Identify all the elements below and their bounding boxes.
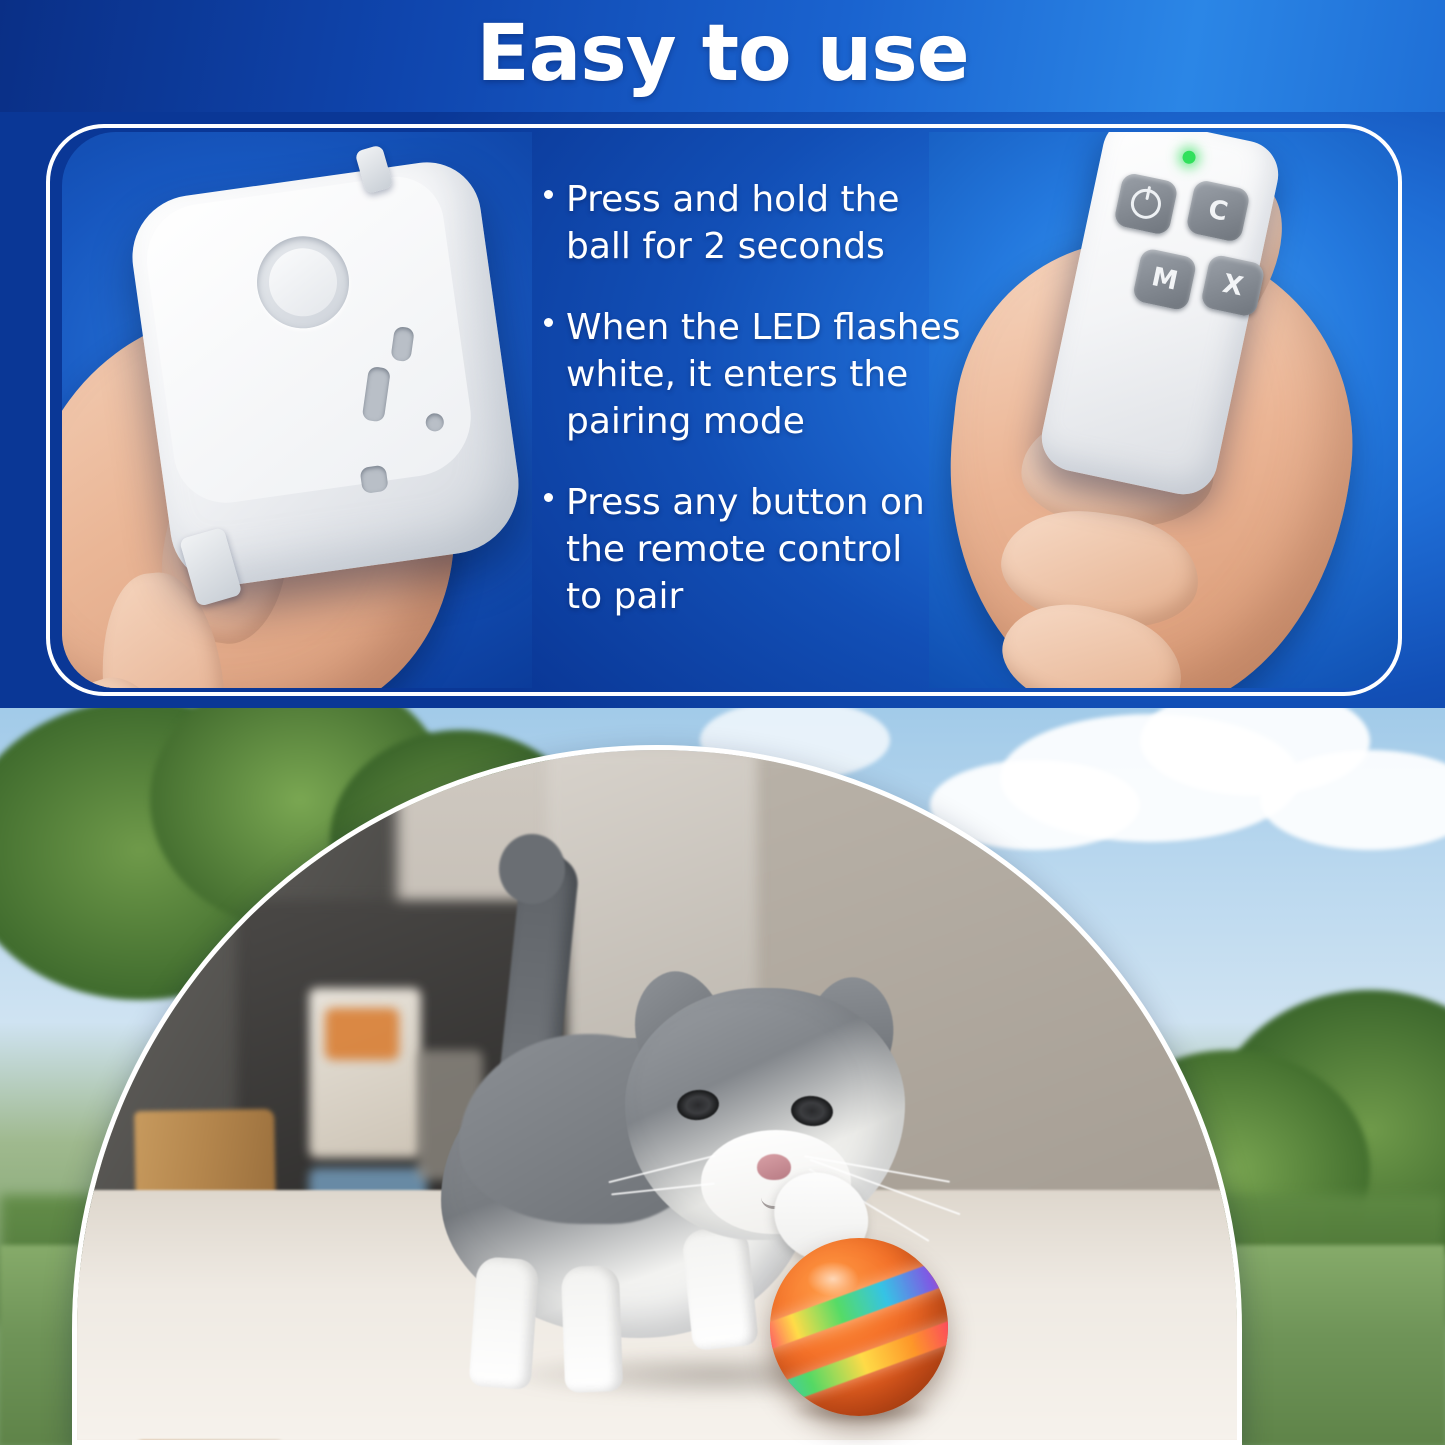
remote-m-button[interactable]: M [1132,247,1198,311]
kitten-leg [469,1256,540,1390]
device-slot [359,465,388,494]
instruction-item: When the LED flashes white, it enters th… [544,304,1014,445]
remote-x-button[interactable]: X [1200,253,1266,317]
power-icon [1128,186,1164,222]
bullet-dot-icon [544,190,553,199]
bullet-dot-icon [544,318,553,327]
instruction-item: Press any button on the remote control t… [544,479,1014,620]
ball-highlight [796,1254,870,1304]
device-photo [62,132,532,688]
smart-device-body [124,155,527,592]
kitten-tail-tip [499,834,565,904]
kitten-photo-arch [72,745,1242,1445]
kitten-leg [561,1265,623,1393]
remote-c-button[interactable]: C [1185,179,1251,243]
remote-power-button[interactable] [1113,172,1179,236]
instruction-item: Press and hold the ball for 2 seconds [544,176,1014,270]
infographic-stage: C X M Press and hold the ball for 2 seco… [0,0,1445,1445]
smart-ball [770,1238,948,1416]
instruction-list: Press and hold the ball for 2 seconds Wh… [544,176,1014,654]
device-face [140,171,479,510]
bullet-dot-icon [544,493,553,502]
header-bar: Easy to use [0,0,1445,112]
kitten-nose [757,1154,791,1180]
instruction-text: Press any button on the remote control t… [566,479,925,620]
instruction-text: When the LED flashes white, it enters th… [566,304,961,445]
led-indicator-icon [1181,150,1196,165]
bottom-scene [0,690,1445,1445]
page-title: Easy to use [0,2,1445,106]
instruction-text: Press and hold the ball for 2 seconds [566,176,900,270]
shelf-object [325,1008,399,1060]
kitten-leg [681,1225,759,1351]
